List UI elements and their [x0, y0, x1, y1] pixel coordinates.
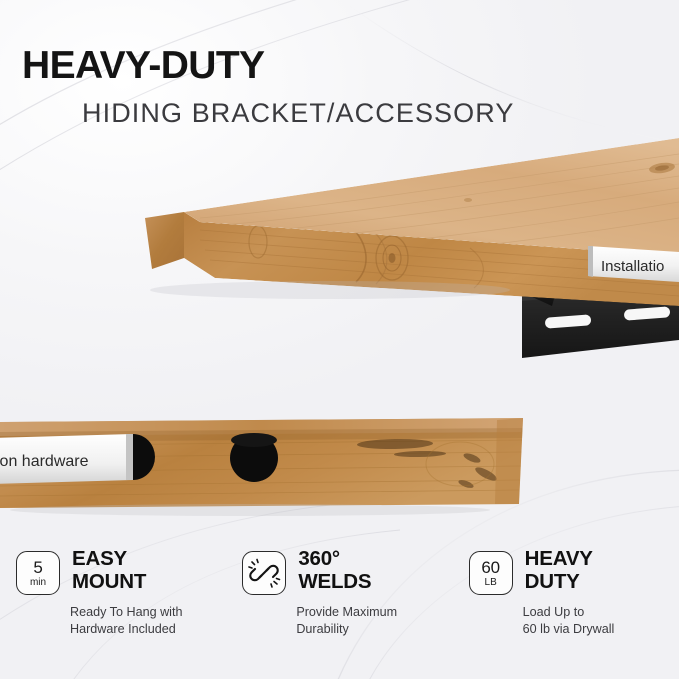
feature-description: Load Up to 60 lb via Drywall	[523, 604, 679, 637]
feature-title-line1: HEAVY	[525, 548, 593, 571]
feature-desc-line2: Durability	[296, 621, 452, 638]
installation-label-text: Installatio	[601, 258, 664, 275]
weight-badge-icon: 60 LB	[469, 551, 513, 595]
chain-link-glyph	[243, 552, 285, 594]
feature-desc-line1: Ready To Hang with	[70, 604, 226, 621]
feature-desc-line1: Load Up to	[523, 604, 679, 621]
hardware-label-text: ion hardware	[0, 453, 89, 470]
timer-badge-unit: min	[30, 578, 46, 588]
installation-label: Installatio	[588, 246, 679, 282]
feature-title-line1: EASY	[72, 548, 146, 571]
feature-360-welds: 360° WELDS Provide Maximum Durability	[226, 548, 452, 658]
weight-badge-unit: LB	[485, 578, 497, 588]
page-title: HEAVY-DUTY	[22, 44, 264, 88]
product-photo-top: Installatio	[0, 130, 679, 360]
product-photo-bottom: ion hardware	[0, 400, 679, 530]
chain-link-weld-icon	[242, 551, 286, 595]
feature-row: 5 min EASY MOUNT Ready To Hang with Hard…	[0, 548, 679, 658]
feature-easy-mount: 5 min EASY MOUNT Ready To Hang with Hard…	[0, 548, 226, 658]
feature-title-line1: 360°	[298, 548, 371, 571]
feature-description: Ready To Hang with Hardware Included	[70, 604, 226, 637]
feature-desc-line2: Hardware Included	[70, 621, 226, 638]
page-subtitle: HIDING BRACKET/ACCESSORY	[82, 98, 514, 129]
feature-desc-line2: 60 lb via Drywall	[523, 621, 679, 638]
feature-title-line2: MOUNT	[72, 571, 146, 594]
feature-heavy-duty: 60 LB HEAVY DUTY Load Up to 60 lb via Dr…	[453, 548, 679, 658]
feature-desc-line1: Provide Maximum	[296, 604, 452, 621]
feature-description: Provide Maximum Durability	[296, 604, 452, 637]
feature-title-line2: DUTY	[525, 571, 593, 594]
feature-title: 360° WELDS	[298, 548, 371, 593]
shelf-end-grain	[145, 212, 184, 269]
feature-title: EASY MOUNT	[72, 548, 146, 593]
hardware-label: ion hardware	[0, 434, 155, 484]
product-marketing-image: HEAVY-DUTY HIDING BRACKET/ACCESSORY	[0, 0, 679, 679]
weight-badge-value: 60	[481, 559, 500, 576]
feature-title: HEAVY DUTY	[525, 548, 593, 593]
timer-badge-value: 5	[33, 559, 42, 576]
feature-title-line2: WELDS	[298, 571, 371, 594]
timer-badge-icon: 5 min	[16, 551, 60, 595]
